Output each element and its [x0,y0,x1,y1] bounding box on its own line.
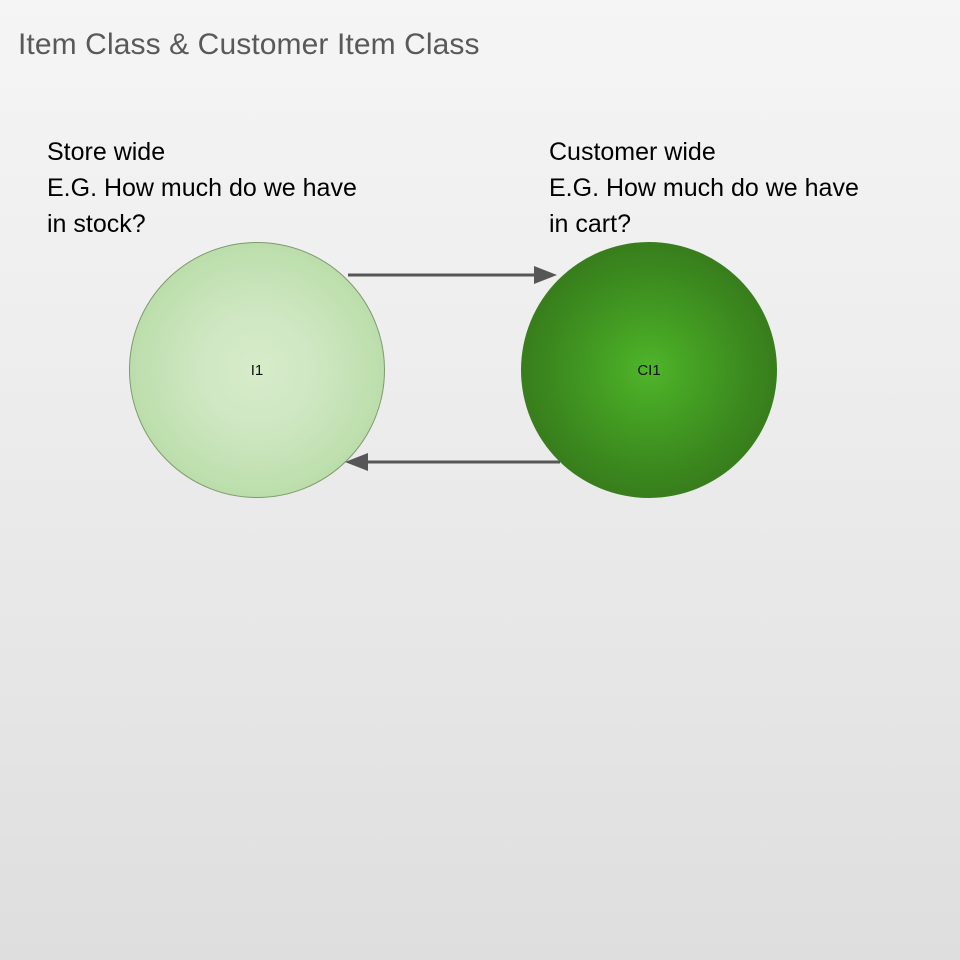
caption-customer-wide-line-2: E.G. How much do we have [549,170,859,206]
node-item-class[interactable]: I1 [129,242,385,498]
arrowhead-right-icon [534,266,557,284]
node-customer-item-class[interactable]: CI1 [521,242,777,498]
node-item-class-label: I1 [251,363,264,378]
caption-customer-wide-line-1: Customer wide [549,134,859,170]
caption-customer-wide-line-3: in cart? [549,206,859,242]
slide-canvas: Item Class & Customer Item Class Store w… [0,0,960,960]
connector-customer-item-to-item [345,453,560,471]
caption-store-wide-line-3: in stock? [47,206,357,242]
caption-store-wide: Store wide E.G. How much do we have in s… [47,134,357,242]
node-customer-item-class-label: CI1 [637,363,660,378]
caption-customer-wide: Customer wide E.G. How much do we have i… [549,134,859,242]
caption-store-wide-line-1: Store wide [47,134,357,170]
page-title: Item Class & Customer Item Class [18,26,480,64]
caption-store-wide-line-2: E.G. How much do we have [47,170,357,206]
connector-item-to-customer-item [348,266,557,284]
